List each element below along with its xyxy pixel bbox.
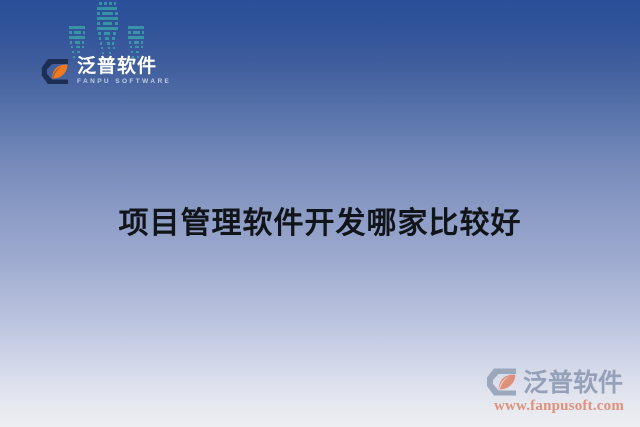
watermark-url: www.fanpusoft.com (486, 398, 632, 415)
watermark-name-cn: 泛普软件 (523, 370, 623, 395)
promo-banner: 泛普软件 FANPU SOFTWARE 项目管理软件开发哪家比较好 泛普软件 w… (0, 0, 640, 427)
brand-wordmark: 泛普软件 FANPU SOFTWARE (77, 57, 171, 86)
watermark: 泛普软件 www.fanpusoft.com (486, 367, 632, 415)
brand-name-cn: 泛普软件 (77, 57, 171, 76)
fanpu-logo-mark-icon (41, 58, 70, 85)
page-title: 项目管理软件开发哪家比较好 (0, 198, 640, 242)
brand-name-en: FANPU SOFTWARE (77, 79, 171, 86)
pixel-city-skyline-icon (64, 0, 150, 62)
brand-logo: 泛普软件 FANPU SOFTWARE (41, 57, 171, 86)
fanpu-watermark-mark-icon (486, 367, 518, 397)
watermark-logo-row: 泛普软件 (486, 367, 632, 397)
